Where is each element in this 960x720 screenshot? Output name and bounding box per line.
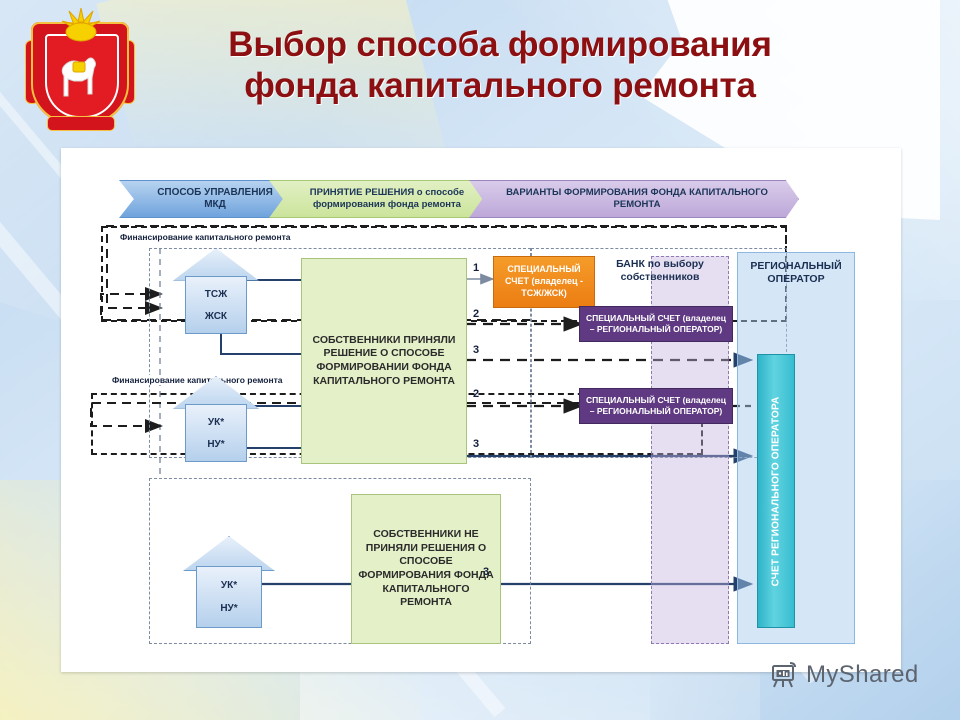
column-header-regional-operator: РЕГИОНАЛЬНЫЙ ОПЕРАТОР <box>737 260 855 286</box>
house-uk-nu-2[interactable]: УК* НУ* <box>183 536 275 628</box>
account-regional-operator-label: СЧЕТ РЕГИОНАЛЬНОГО ОПЕРАТОРА <box>771 396 782 586</box>
banner-varianty-formirovaniya[interactable]: ВАРИАНТЫ ФОРМИРОВАНИЯ ФОНДА КАПИТАЛЬНОГО… <box>469 180 799 218</box>
column-header-line-1: БАНК по выбору <box>616 258 704 270</box>
route-number-3c: 3 <box>483 566 489 578</box>
house-label-2: НУ* <box>207 439 224 450</box>
camel-icon <box>57 48 103 100</box>
route-number-3: 3 <box>473 344 479 356</box>
house-tszh-zhsk[interactable]: ТСЖ ЖСК <box>173 248 259 334</box>
projector-screen-icon <box>770 660 800 690</box>
myshared-watermark: MyShared <box>770 660 919 690</box>
house-label-1: УК* <box>208 417 224 428</box>
decision-box-not-accepted[interactable]: СОБСТВЕННИКИ НЕ ПРИНЯЛИ РЕШЕНИЯ О СПОСОБ… <box>351 494 501 644</box>
watermark-text: MyShared <box>806 661 919 689</box>
diagram-panel: СПОСОБ УПРАВЛЕНИЯ МКД ПРИНЯТИЕ РЕШЕНИЯ о… <box>61 148 901 672</box>
house-label-1: УК* <box>221 580 237 591</box>
route-number-2b: 2 <box>473 388 479 400</box>
house-label-1: ТСЖ <box>205 289 227 300</box>
column-header-line-2: собственников <box>621 271 700 283</box>
account-special-tszh[interactable]: СПЕЦИАЛЬНЫЙ СЧЕТ (владелец - ТСЖ/ЖСК) <box>493 256 595 308</box>
house-label-2: НУ* <box>220 603 237 614</box>
house-label-2: ЖСК <box>205 311 227 322</box>
account-special-ro-1[interactable]: СПЕЦИАЛЬНЫЙ СЧЕТ (владелец – РЕГИОНАЛЬНЫ… <box>579 306 733 342</box>
label-financing-top: Финансирование капитального ремонта <box>117 232 293 242</box>
page-title: Выбор способа формирования фонда капитал… <box>150 24 850 107</box>
route-number-2: 2 <box>473 308 479 320</box>
column-band-regional-operator <box>737 252 855 644</box>
title-line-1: Выбор способа формирования <box>150 24 850 65</box>
banner-line-2: РЕМОНТА <box>614 199 661 210</box>
diagram-canvas: СПОСОБ УПРАВЛЕНИЯ МКД ПРИНЯТИЕ РЕШЕНИЯ о… <box>61 148 901 672</box>
route-number-1: 1 <box>473 262 479 274</box>
column-header-line-2: ОПЕРАТОР <box>767 273 824 285</box>
banner-line-1: СПОСОБ УПРАВЛЕНИЯ <box>157 187 273 198</box>
account-special-ro-2[interactable]: СПЕЦИАЛЬНЫЙ СЧЕТ (владелец – РЕГИОНАЛЬНЫ… <box>579 388 733 424</box>
decision-box-accepted[interactable]: СОБСТВЕННИКИ ПРИНЯЛИ РЕШЕНИЕ О СПОСОБЕ Ф… <box>301 258 467 464</box>
banner-line-2: формирования фонда ремонта <box>313 199 461 210</box>
column-header-bank: БАНК по выбору собственников <box>585 258 735 284</box>
column-header-line-1: РЕГИОНАЛЬНЫЙ <box>750 260 841 272</box>
title-line-2: фонда капитального ремонта <box>150 65 850 106</box>
chelyabinsk-oblast-coat-of-arms-icon <box>25 6 135 131</box>
sun-rays-icon <box>61 8 101 42</box>
account-regional-operator-bar[interactable]: СЧЕТ РЕГИОНАЛЬНОГО ОПЕРАТОРА <box>757 354 795 628</box>
banner-line-2: МКД <box>204 199 226 210</box>
banner-line-1: ВАРИАНТЫ ФОРМИРОВАНИЯ ФОНДА КАПИТАЛЬНОГО <box>506 187 768 198</box>
route-number-3b: 3 <box>473 438 479 450</box>
banner-line-1: ПРИНЯТИЕ РЕШЕНИЯ о способе <box>310 187 464 198</box>
house-uk-nu-1[interactable]: УК* НУ* <box>173 376 259 462</box>
banner-prinyatie-resheniya[interactable]: ПРИНЯТИЕ РЕШЕНИЯ о способе формирования … <box>269 180 499 218</box>
